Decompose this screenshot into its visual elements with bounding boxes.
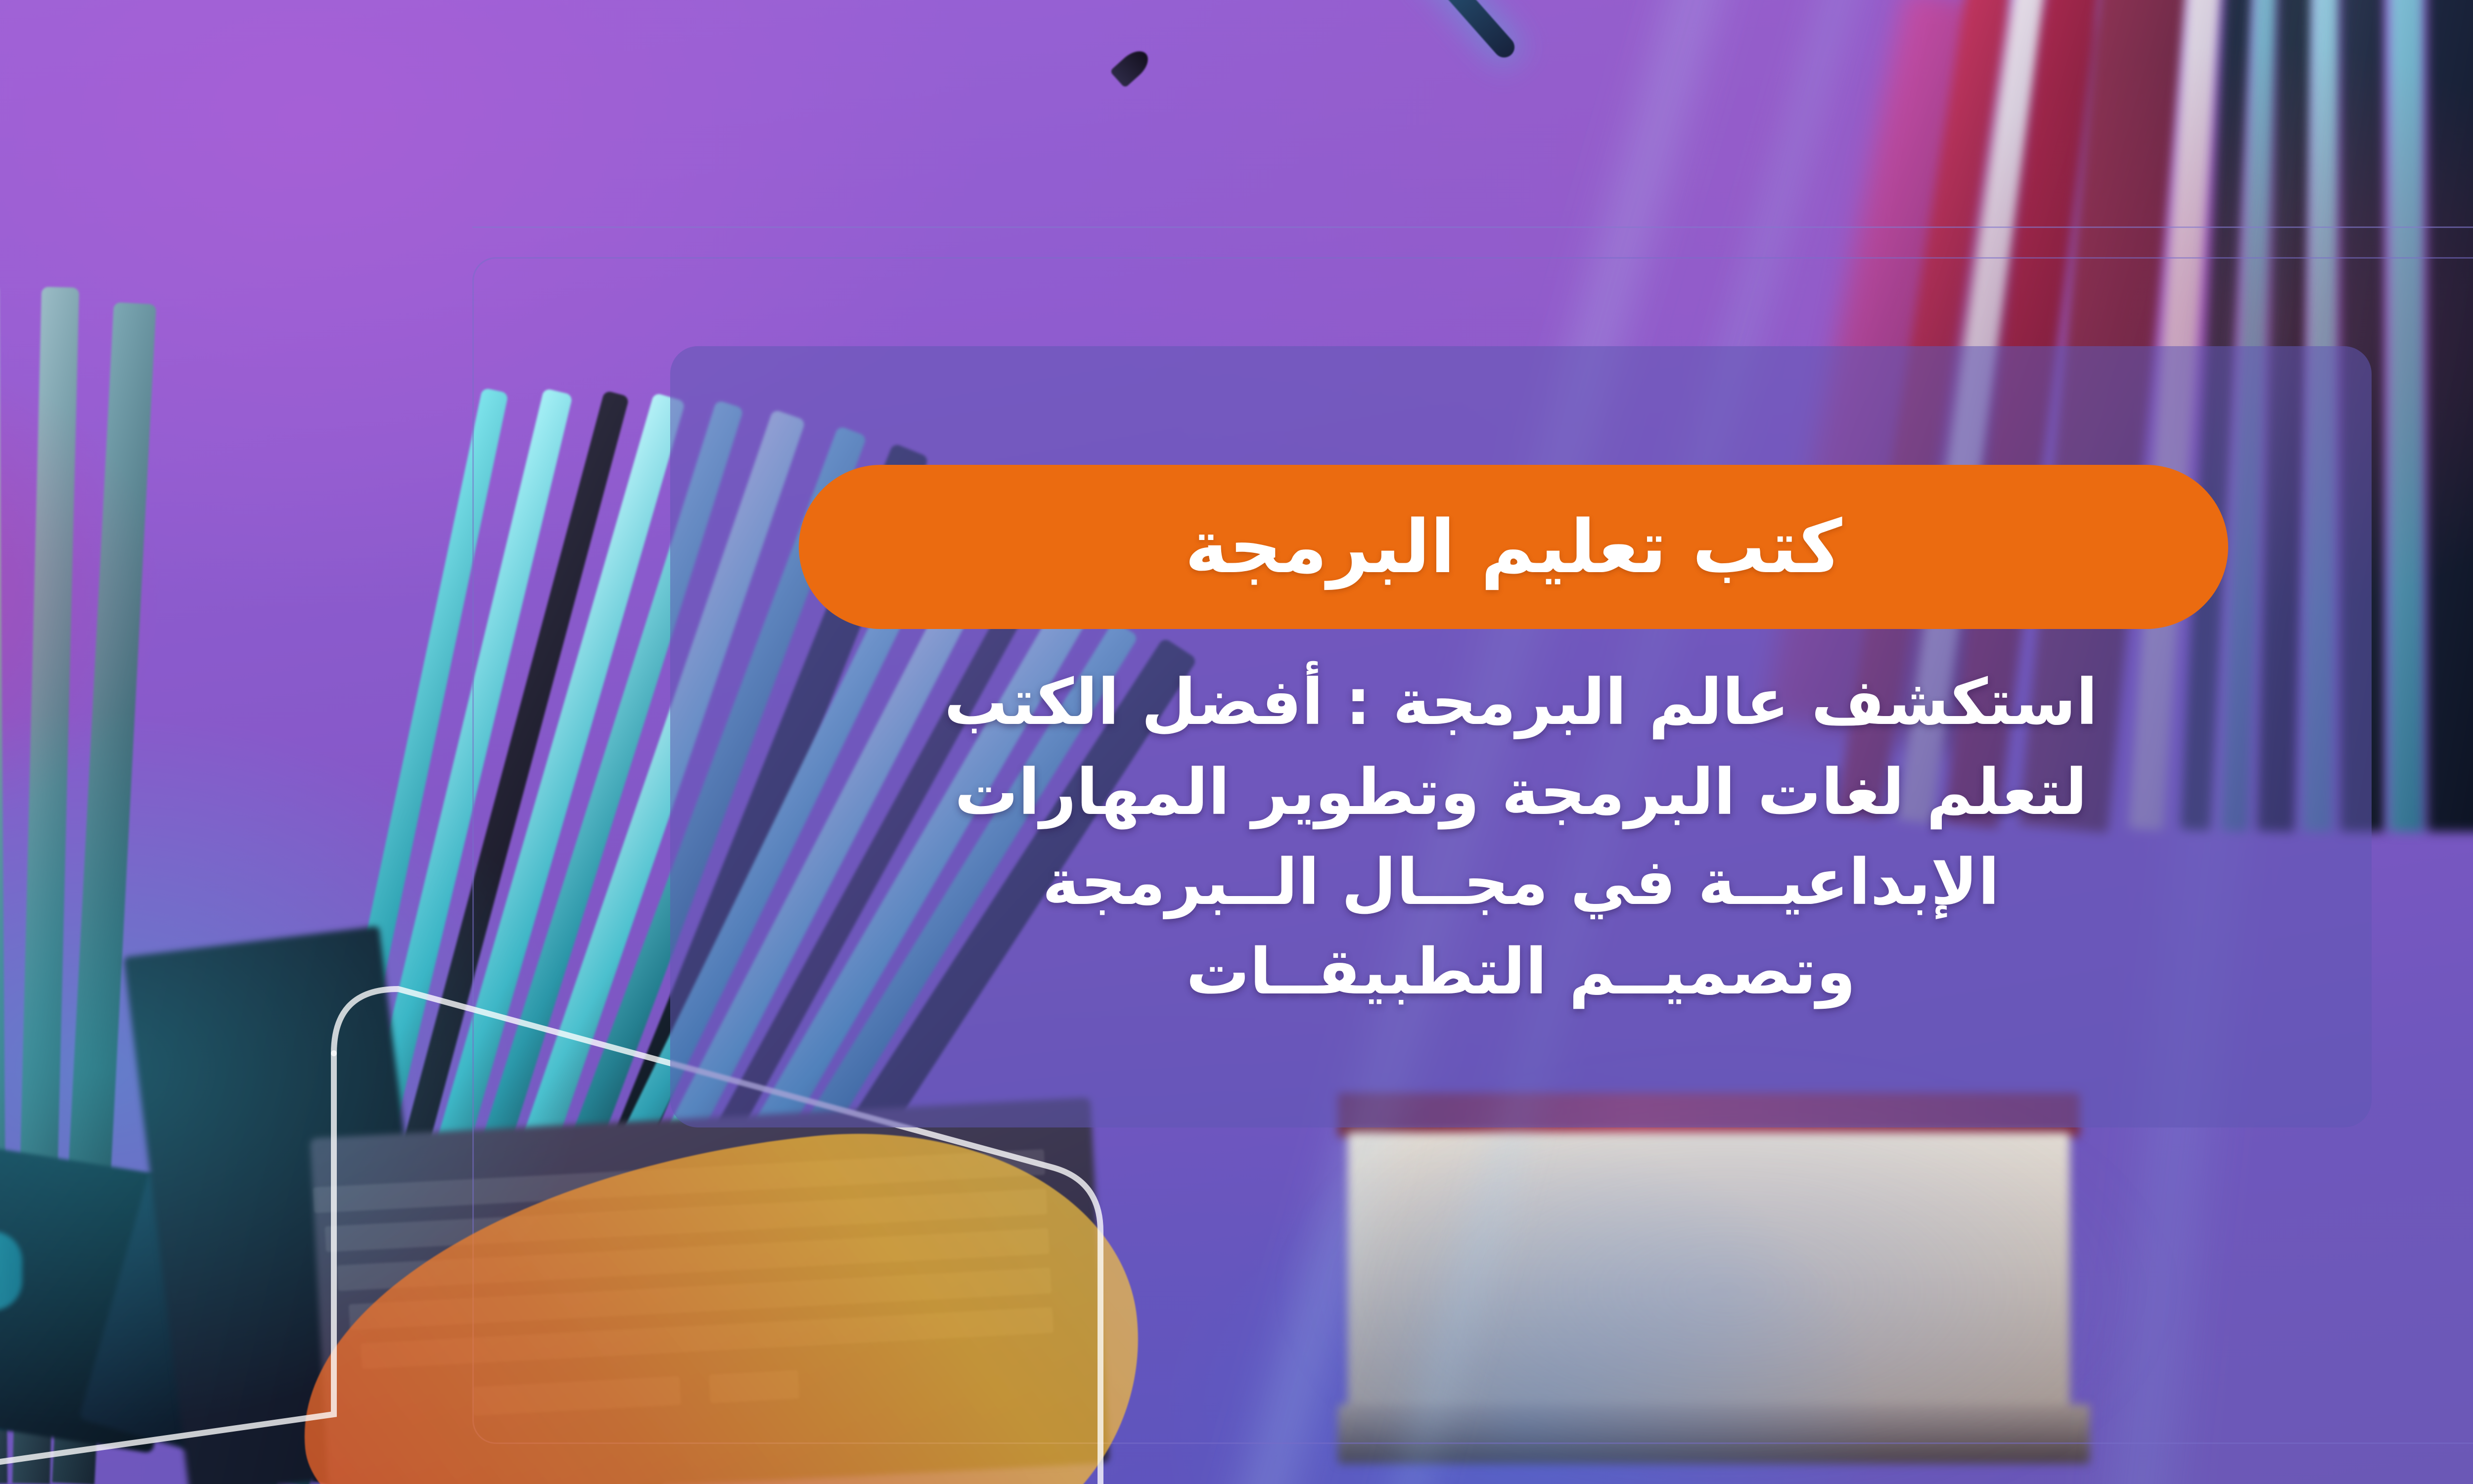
body-line-4: وتصميــم التطبيقــات — [700, 927, 2342, 1017]
body-line-3: الإبداعيــة في مجــال الــبرمجة — [700, 838, 2342, 928]
poster-canvas: كتب تعليم البرمجة استكشف عالم البرمجة : … — [0, 0, 2473, 1484]
title-text: كتب تعليم البرمجة — [1185, 510, 1842, 584]
body-copy: استكشف عالم البرمجة : أفضل الكتب لتعلم ل… — [700, 658, 2342, 1017]
body-line-2: لتعلم لغات البرمجة وتطوير المهارات — [700, 748, 2342, 838]
title-pill[interactable]: كتب تعليم البرمجة — [799, 465, 2228, 629]
body-line-1: استكشف عالم البرمجة : أفضل الكتب — [700, 658, 2342, 748]
decor-hairline-rule — [472, 226, 2473, 228]
